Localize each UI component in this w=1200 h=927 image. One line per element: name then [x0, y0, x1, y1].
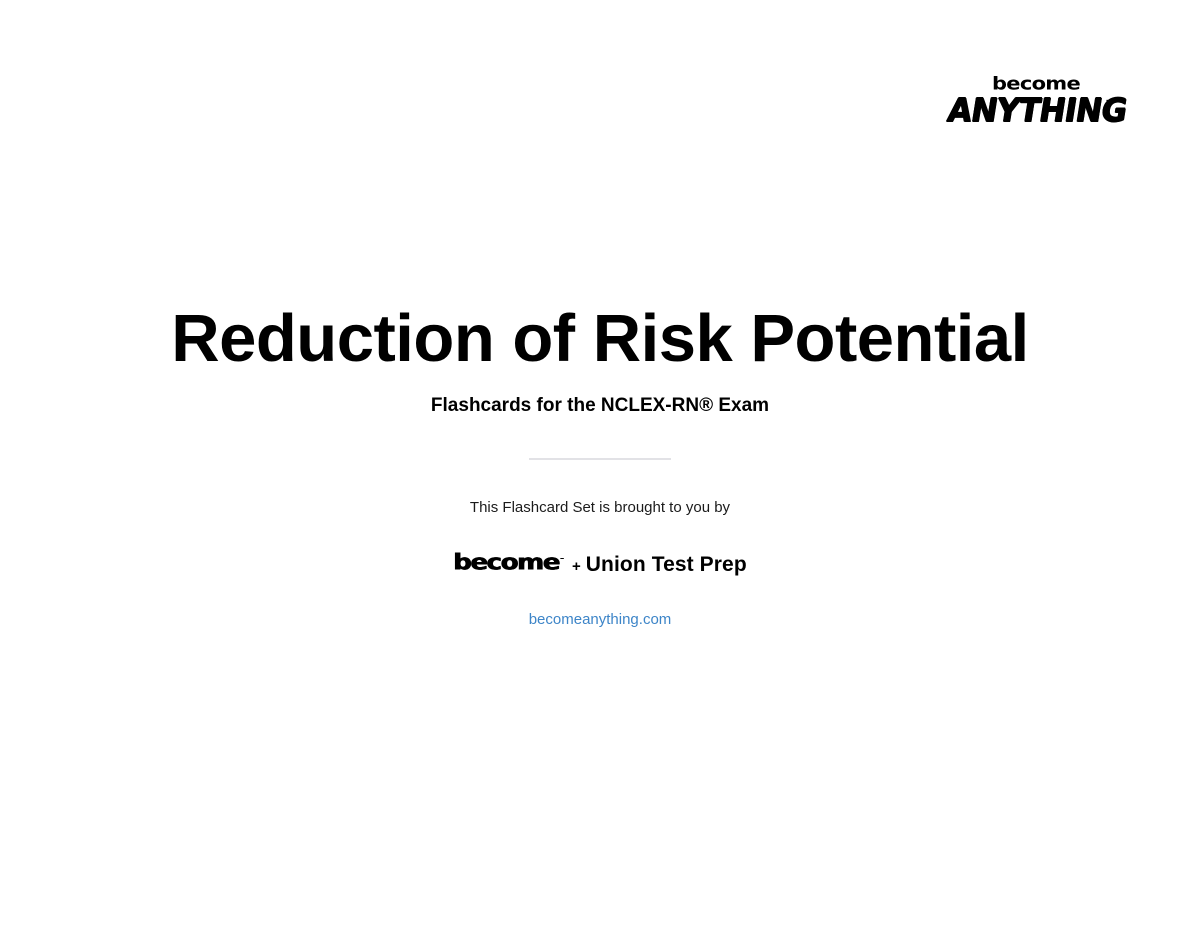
section-divider — [529, 458, 671, 460]
flashcard-cover-page: { "brand": { "logo_line1": "become", "lo… — [0, 0, 1200, 927]
brand-logo-become-anything: become ANYTHING ˗ — [948, 72, 1124, 127]
page-title: Reduction of Risk Potential — [0, 300, 1200, 378]
partner-plus-separator: + — [572, 558, 581, 575]
partner-lockup: become˗ + Union Test Prep — [0, 548, 1200, 578]
brand-logo-anything-text: ANYTHING — [945, 95, 1129, 127]
credit-text: This Flashcard Set is brought to you by — [0, 498, 1200, 518]
partner-become-logo: become˗ — [453, 550, 564, 575]
partner-become-logo-text: become — [453, 550, 559, 575]
website-link[interactable]: becomeanything.com — [529, 610, 672, 630]
brand-logo-trademark-icon: ˗ — [1106, 94, 1110, 107]
page-subtitle: Flashcards for the NCLEX-RN® Exam — [0, 394, 1200, 418]
cover-link-row: becomeanything.com — [0, 578, 1200, 630]
partner-become-trademark-icon: ˗ — [560, 552, 564, 564]
brand-logo-anything-wrap: ANYTHING ˗ — [948, 96, 1124, 127]
partner-union-test-prep-label: Union Test Prep — [586, 553, 747, 577]
cover-content: Reduction of Risk Potential Flashcards f… — [0, 300, 1200, 630]
brand-logo-become-text: become — [948, 75, 1124, 93]
